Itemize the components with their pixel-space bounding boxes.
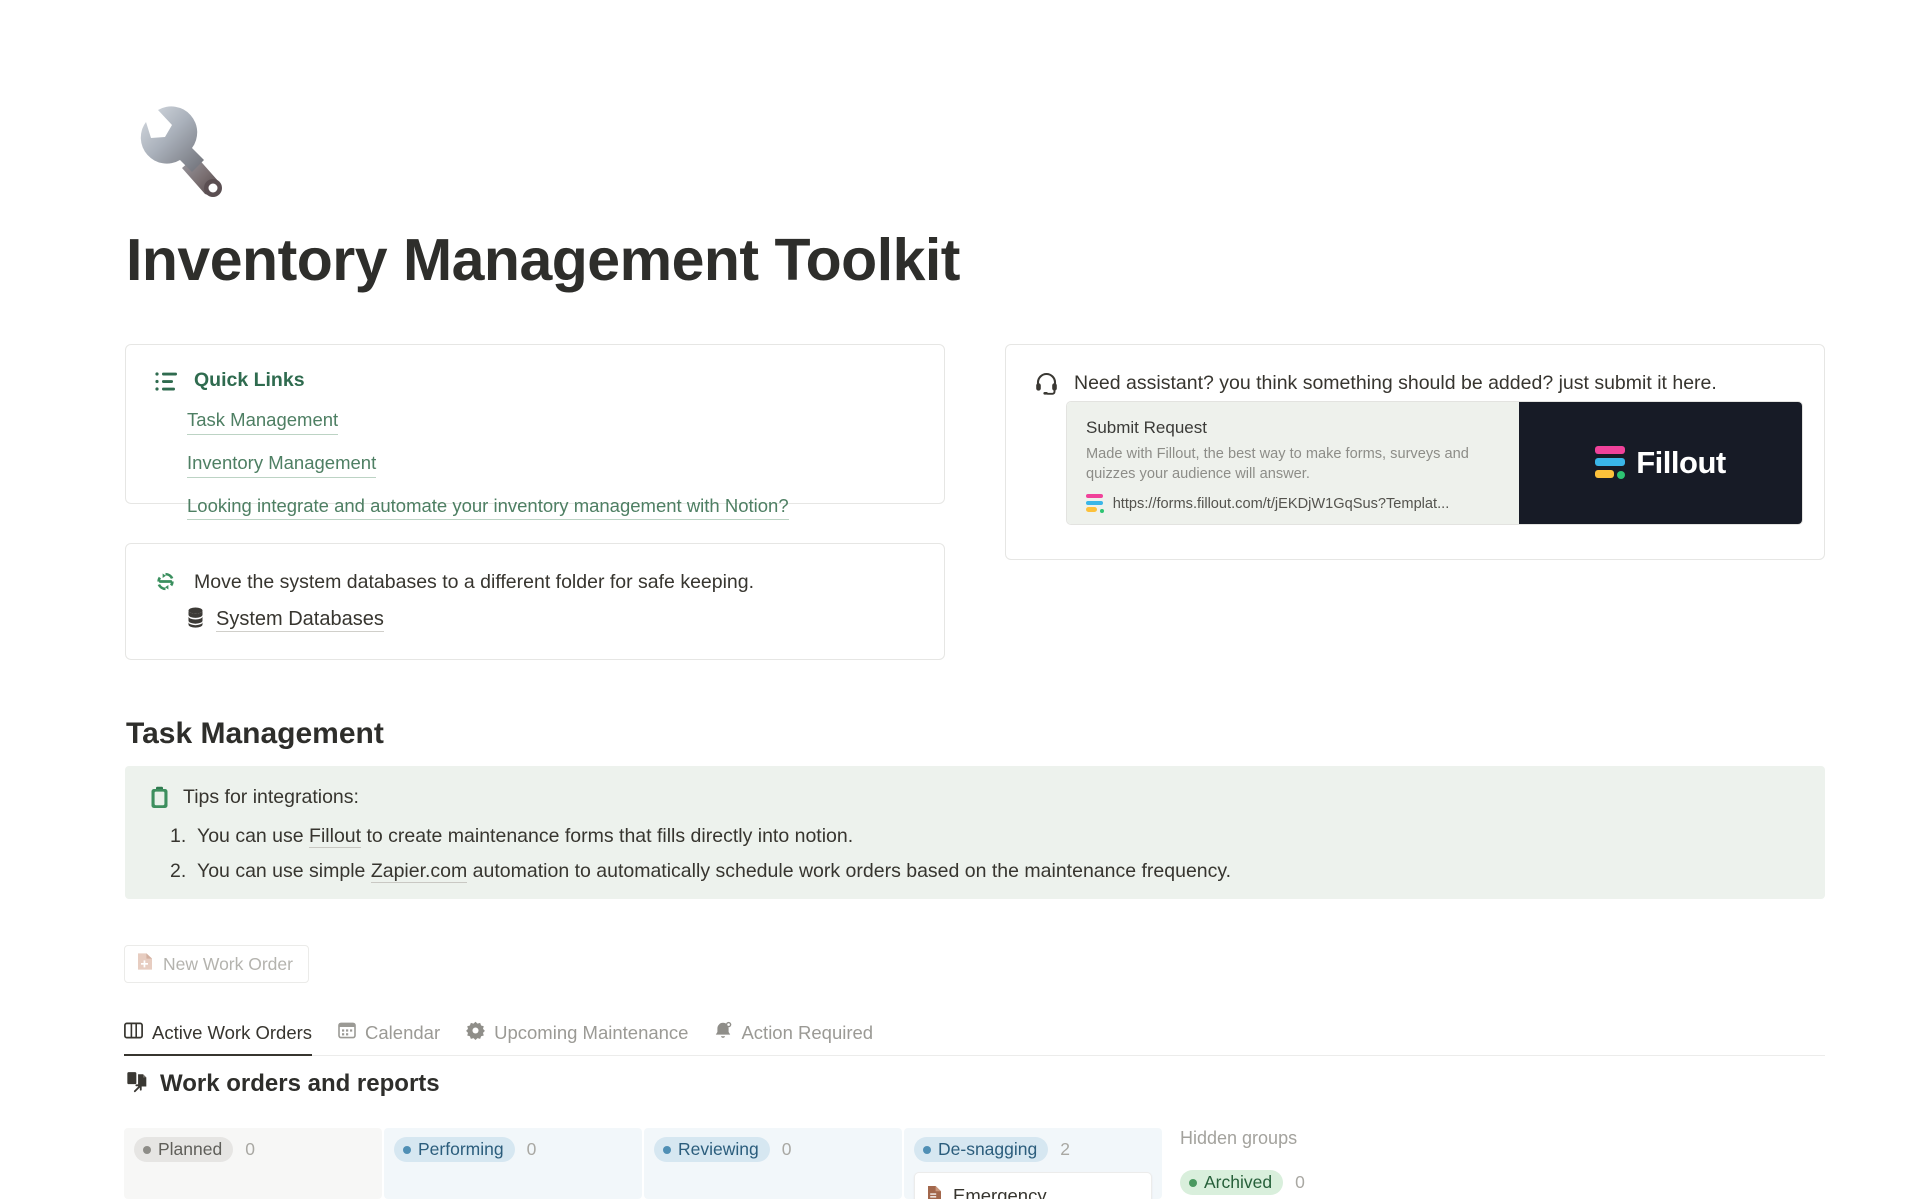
group-label: Reviewing	[678, 1139, 759, 1160]
embed-title: Submit Request	[1086, 417, 1501, 438]
tab-action-required[interactable]: Action Required	[714, 1010, 873, 1055]
fillout-wordmark: Fillout	[1636, 445, 1725, 481]
tab-upcoming-maintenance[interactable]: Upcoming Maintenance	[466, 1010, 688, 1055]
tip-item: You can use simple Zapier.com automation…	[197, 857, 1825, 886]
new-work-order-label: New Work Order	[163, 954, 293, 975]
bell-alert-icon	[714, 1021, 732, 1045]
tab-calendar[interactable]: Calendar	[338, 1010, 440, 1055]
tip-prefix: You can use	[197, 825, 309, 847]
tab-label: Calendar	[365, 1022, 440, 1044]
group-count: 0	[527, 1139, 537, 1160]
new-work-order-button[interactable]: New Work Order	[124, 945, 309, 983]
tab-label: Action Required	[741, 1022, 873, 1044]
board-column-reviewing: Reviewing 0	[644, 1128, 902, 1199]
fillout-embed-details: Submit Request Made with Fillout, the be…	[1067, 402, 1519, 524]
zapier-inline-link[interactable]: Zapier.com	[371, 860, 467, 883]
system-databases-text: Move the system databases to a different…	[194, 568, 754, 596]
hidden-groups-label: Hidden groups	[1180, 1128, 1305, 1149]
view-tabs: Active Work Orders Calendar	[124, 1010, 1825, 1056]
page-icon	[927, 1185, 942, 1199]
tab-label: Active Work Orders	[152, 1022, 312, 1044]
quick-link-task-management[interactable]: Task Management	[187, 407, 338, 435]
group-count: 0	[782, 1139, 792, 1160]
hidden-groups: Hidden groups Archived 0	[1180, 1128, 1305, 1195]
tab-label: Upcoming Maintenance	[494, 1022, 688, 1044]
fillout-brand-panel: Fillout	[1519, 402, 1802, 524]
quick-links-list: Task Management Inventory Management Loo…	[126, 397, 944, 520]
tip-prefix: You can use simple	[197, 860, 371, 882]
page-header: Inventory Management Toolkit	[126, 104, 960, 293]
clipboard-icon	[149, 786, 170, 814]
quick-link-inventory-management[interactable]: Inventory Management	[187, 450, 376, 478]
calendar-icon	[338, 1021, 356, 1044]
new-page-icon	[137, 952, 153, 976]
database-link-icon	[126, 1070, 149, 1098]
assistance-text: Need assistant? you think something shou…	[1074, 369, 1717, 397]
quick-links-heading: Quick Links	[194, 369, 305, 392]
board-column-planned: Planned 0	[124, 1128, 382, 1199]
tips-label: Tips for integrations:	[183, 786, 359, 809]
tab-active-work-orders[interactable]: Active Work Orders	[124, 1010, 312, 1055]
board-column-de-snagging: De-snagging 2 Emergency	[904, 1128, 1162, 1199]
fillout-embed[interactable]: Submit Request Made with Fillout, the be…	[1066, 401, 1803, 525]
assistance-card: Need assistant? you think something shou…	[1005, 344, 1825, 560]
board-card-label: Emergency	[953, 1185, 1047, 1199]
group-chip[interactable]: Planned	[134, 1137, 233, 1162]
wrench-emoji	[126, 104, 256, 214]
board-columns: Planned 0 Performing 0 Reviewing 0	[124, 1128, 1164, 1199]
circular-arrows-icon	[154, 568, 180, 598]
group-chip[interactable]: De-snagging	[914, 1137, 1048, 1162]
tip-suffix: to create maintenance forms that fills d…	[361, 825, 853, 847]
task-management-heading: Task Management	[126, 717, 384, 751]
quick-link-notion-automation[interactable]: Looking integrate and automate your inve…	[187, 493, 789, 521]
group-label: De-snagging	[938, 1139, 1037, 1160]
fillout-logo-large-icon	[1595, 446, 1625, 481]
fillout-logo-icon	[1086, 494, 1104, 514]
bulleted-list-icon	[154, 369, 180, 397]
group-chip[interactable]: Performing	[394, 1137, 515, 1162]
board-icon	[124, 1022, 143, 1044]
quick-links-card: Quick Links Task Management Inventory Ma…	[125, 344, 945, 504]
tip-item: You can use Fillout to create maintenanc…	[197, 822, 1825, 851]
gear-icon	[466, 1021, 485, 1045]
notion-page: Inventory Management Toolkit Quick Links…	[0, 0, 1920, 1199]
board-title-text: Work orders and reports	[160, 1070, 440, 1098]
group-label: Planned	[158, 1139, 222, 1160]
system-databases-card: Move the system databases to a different…	[125, 543, 945, 660]
tips-list: You can use Fillout to create maintenanc…	[125, 814, 1825, 887]
page-title: Inventory Management Toolkit	[126, 228, 960, 293]
tips-callout: Tips for integrations: You can use Fillo…	[125, 766, 1825, 899]
system-databases-link[interactable]: System Databases	[216, 608, 384, 632]
group-count: 2	[1060, 1139, 1070, 1160]
board-card-emergency[interactable]: Emergency	[914, 1172, 1152, 1199]
board-title: Work orders and reports	[126, 1070, 440, 1098]
embed-url[interactable]: https://forms.fillout.com/t/jEKDjW1GqSus…	[1113, 496, 1450, 512]
headset-icon	[1034, 369, 1060, 400]
embed-description: Made with Fillout, the best way to make …	[1086, 445, 1501, 484]
hidden-group-count: 0	[1295, 1172, 1305, 1193]
database-stack-icon	[186, 607, 205, 633]
group-count: 0	[245, 1139, 255, 1160]
group-chip[interactable]: Reviewing	[654, 1137, 770, 1162]
tip-suffix: automation to automatically schedule wor…	[467, 860, 1231, 882]
board-column-performing: Performing 0	[384, 1128, 642, 1199]
hidden-group-chip-archived[interactable]: Archived	[1180, 1170, 1283, 1195]
fillout-inline-link[interactable]: Fillout	[309, 825, 361, 848]
group-label: Performing	[418, 1139, 504, 1160]
hidden-group-label: Archived	[1204, 1172, 1272, 1193]
